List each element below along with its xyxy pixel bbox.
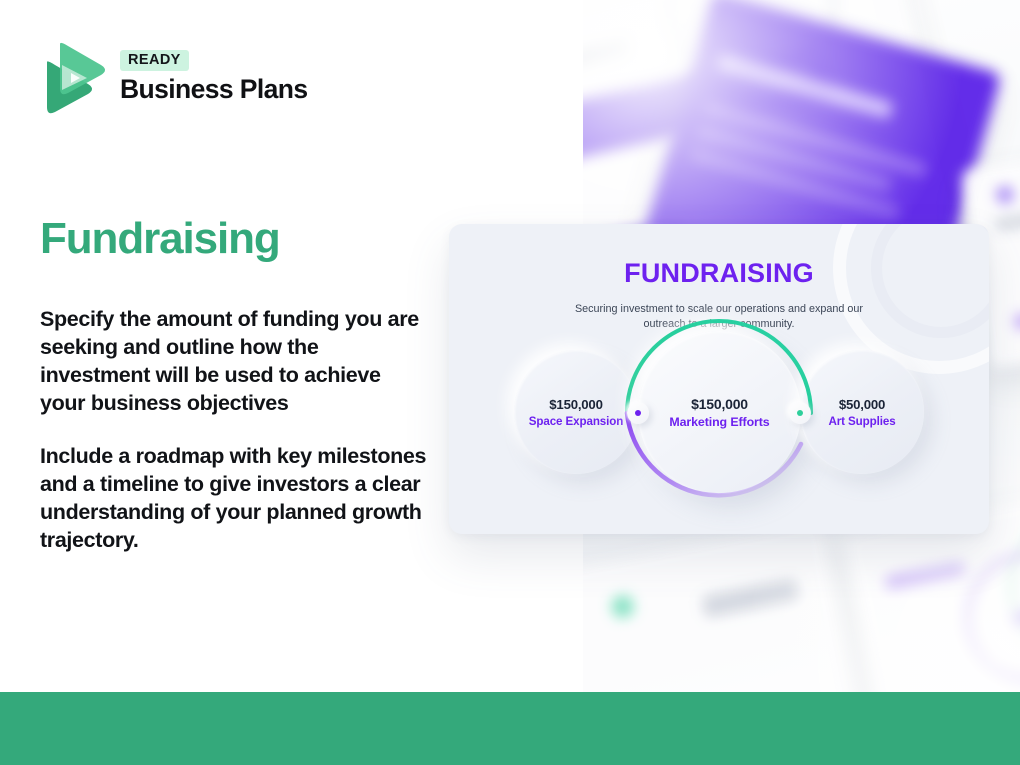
funding-circle-art-supplies[interactable]: $50,000 Art Supplies (800, 350, 924, 474)
funding-amount: $150,000 (691, 396, 748, 412)
funding-circle-marketing-efforts[interactable]: $150,000 Marketing Efforts (638, 331, 801, 494)
funding-breakdown-circles: $150,000 Space Expansion $150,000 Market… (449, 344, 989, 524)
funding-label: Art Supplies (828, 415, 895, 428)
funding-circle-space-expansion[interactable]: $150,000 Space Expansion (514, 350, 638, 474)
right-connector-dot-icon (797, 410, 803, 416)
fundraising-card: FUNDRAISING Securing investment to scale… (449, 224, 989, 534)
funding-label: Space Expansion (529, 415, 624, 428)
ready-badge: READY (120, 50, 189, 72)
presentation-slide: READY Business Plans Fundraising Specify… (0, 0, 1020, 765)
left-connector-dot-icon (635, 410, 641, 416)
brand-logo-text: READY Business Plans (120, 50, 308, 105)
left-connector-knob (627, 402, 649, 424)
play-triangle-logo-icon (40, 38, 106, 116)
fundraising-card-title: FUNDRAISING (449, 258, 989, 289)
funding-label: Marketing Efforts (669, 415, 769, 429)
fundraising-card-subtitle: Securing investment to scale our operati… (554, 302, 884, 333)
page-title: Fundraising (40, 216, 280, 262)
right-connector-knob (789, 402, 811, 424)
funding-amount: $50,000 (839, 397, 885, 412)
brand-name: Business Plans (120, 75, 308, 104)
funding-amount: $150,000 (549, 397, 602, 412)
body-copy: Specify the amount of funding you are se… (40, 306, 430, 555)
paragraph-1: Specify the amount of funding you are se… (40, 306, 430, 418)
paragraph-2: Include a roadmap with key milestones an… (40, 443, 430, 555)
brand-logo[interactable]: READY Business Plans (40, 38, 308, 116)
footer-bar (0, 692, 1020, 765)
